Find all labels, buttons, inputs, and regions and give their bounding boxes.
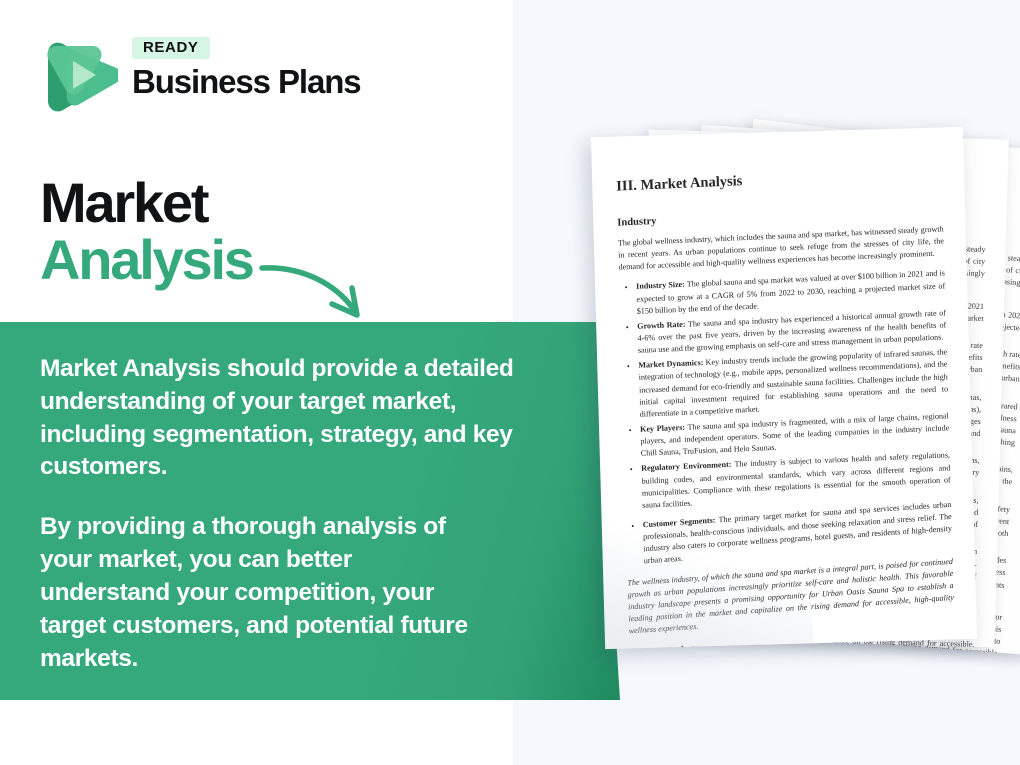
list-item: Market Dynamics: Key industry trends inc… xyxy=(638,347,948,421)
slide-canvas: READY Business Plans Market Analysis Mar… xyxy=(0,0,1020,765)
document-page-front[interactable]: III. Market Analysis Industry The global… xyxy=(591,127,977,649)
bullet-term: Key Players: xyxy=(640,423,685,434)
bullet-term: Regulatory Environment: xyxy=(641,460,732,473)
bullet-text: The primary target market for sauna and … xyxy=(643,500,952,566)
doc-bullet-list: Industry Size: The global sauna and spa … xyxy=(619,268,951,513)
bullet-term: Growth Rate: xyxy=(637,320,686,331)
bullet-term: Industry Size: xyxy=(636,280,685,291)
doc-closing-paragraph: The wellness industry, of which the saun… xyxy=(627,555,954,637)
doc-title: III. Market Analysis xyxy=(616,164,942,195)
document-stack: III. Market Analysis Industry The global… xyxy=(0,0,1020,765)
bullet-term: Market Dynamics: xyxy=(638,358,703,370)
bullet-text: The industry is subject to various healt… xyxy=(641,451,950,510)
doc-intro-paragraph: The global wellness industry, which incl… xyxy=(618,223,945,274)
